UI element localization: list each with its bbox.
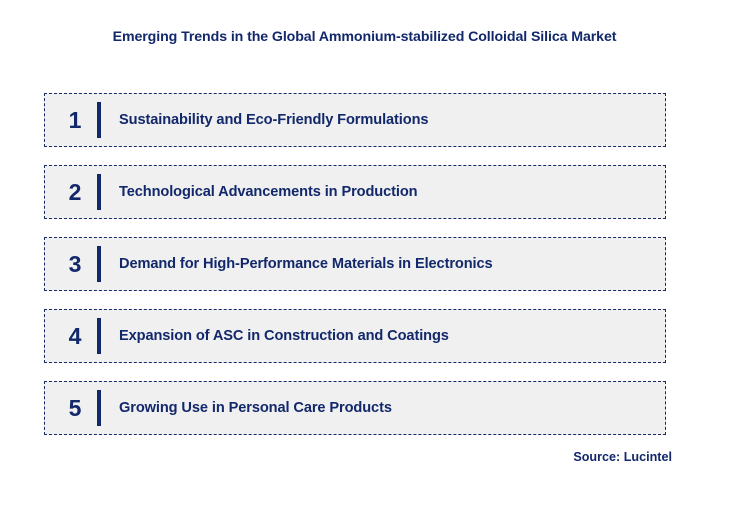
list-item[interactable]: 2 Technological Advancements in Producti… xyxy=(44,165,666,219)
source-attribution: Source: Lucintel xyxy=(0,450,672,464)
page-title: Emerging Trends in the Global Ammonium-s… xyxy=(0,29,729,45)
list-item[interactable]: 4 Expansion of ASC in Construction and C… xyxy=(44,309,666,363)
trend-rank-number: 2 xyxy=(45,181,97,204)
infographic-page: Emerging Trends in the Global Ammonium-s… xyxy=(0,0,729,531)
trend-label: Sustainability and Eco-Friendly Formulat… xyxy=(101,112,428,128)
list-item[interactable]: 5 Growing Use in Personal Care Products xyxy=(44,381,666,435)
trend-rank-number: 1 xyxy=(45,109,97,132)
trend-rank-number: 5 xyxy=(45,397,97,420)
trend-label: Technological Advancements in Production xyxy=(101,184,417,200)
trend-list: 1 Sustainability and Eco-Friendly Formul… xyxy=(44,93,666,435)
trend-rank-number: 3 xyxy=(45,253,97,276)
trend-label: Expansion of ASC in Construction and Coa… xyxy=(101,328,449,344)
trend-label: Growing Use in Personal Care Products xyxy=(101,400,392,416)
list-item[interactable]: 1 Sustainability and Eco-Friendly Formul… xyxy=(44,93,666,147)
trend-rank-number: 4 xyxy=(45,325,97,348)
trend-label: Demand for High-Performance Materials in… xyxy=(101,256,493,272)
list-item[interactable]: 3 Demand for High-Performance Materials … xyxy=(44,237,666,291)
